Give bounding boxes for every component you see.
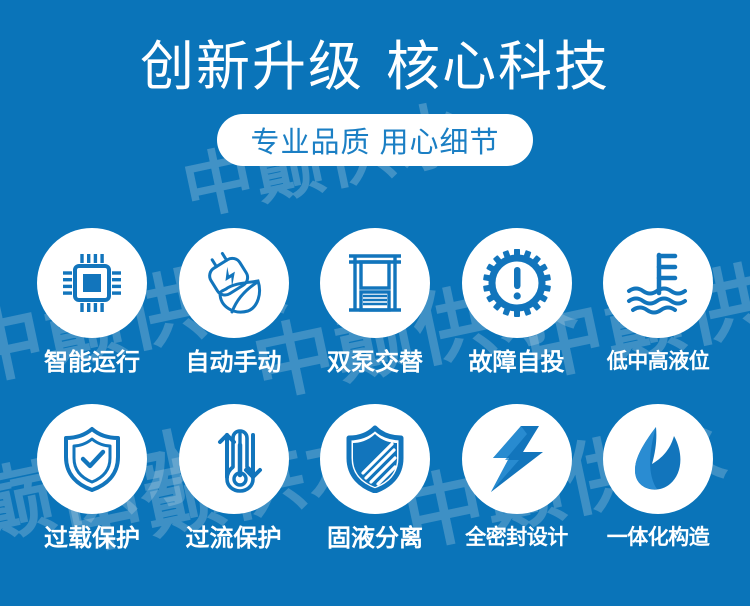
feature-icon-circle (320, 228, 430, 338)
feature-item[interactable]: 自动手动 (172, 228, 296, 375)
feature-label: 过载保护 (44, 527, 140, 551)
water-drop-leaf-icon (626, 424, 690, 494)
feature-item[interactable]: 智能运行 (30, 228, 154, 375)
feature-icon-circle (462, 404, 572, 514)
feature-label: 固液分离 (327, 527, 423, 551)
feature-icon-circle (603, 404, 713, 514)
feature-label: 一体化构造 (607, 527, 710, 548)
feature-icon-circle (37, 404, 147, 514)
cpu-chip-icon (59, 250, 125, 316)
dual-pump-icon (343, 250, 407, 316)
feature-label: 全密封设计 (465, 527, 568, 548)
tagline-badge: 专业品质 用心细节 (217, 114, 533, 166)
promo-banner: 中巅供水 中巅供水 中巅供水 中巅供水 中巅供水 中巅供水 中巅供水 创新升级核… (0, 0, 750, 606)
page-title: 创新升级核心科技 (0, 0, 750, 100)
feature-item[interactable]: 故障自投 (455, 228, 579, 375)
feature-icon-circle (320, 404, 430, 514)
banner-header: 创新升级核心科技 专业品质 用心细节 (0, 0, 750, 166)
plug-leaf-icon (200, 249, 268, 317)
feature-icon-circle (179, 228, 289, 338)
shield-check-icon (58, 425, 126, 493)
lightning-bolt-icon (487, 424, 547, 494)
feature-label: 双泵交替 (327, 351, 423, 375)
feature-grid: 智能运行 (0, 228, 750, 551)
thermometer-arrows-icon (201, 425, 267, 493)
feature-item[interactable]: 低中高液位 (596, 228, 720, 375)
feature-icon-circle (179, 404, 289, 514)
feature-label: 低中高液位 (607, 351, 710, 372)
feature-label: 过流保护 (186, 527, 282, 551)
water-level-icon (623, 249, 693, 317)
gear-alert-icon (483, 249, 551, 317)
feature-item[interactable]: 固液分离 (313, 404, 437, 551)
feature-item[interactable]: 过载保护 (30, 404, 154, 551)
feature-row-2: 过载保护 (0, 404, 750, 551)
feature-icon-circle (462, 228, 572, 338)
feature-item[interactable]: 一体化构造 (596, 404, 720, 551)
feature-item[interactable]: 过流保护 (172, 404, 296, 551)
feature-icon-circle (37, 228, 147, 338)
feature-row-1: 智能运行 (0, 228, 750, 375)
feature-item[interactable]: 全密封设计 (455, 404, 579, 551)
title-part-1: 创新升级 (140, 37, 364, 97)
feature-label: 自动手动 (186, 351, 282, 375)
feature-label: 智能运行 (44, 351, 140, 375)
feature-item[interactable]: 双泵交替 (313, 228, 437, 375)
title-part-2: 核心科技 (386, 37, 610, 97)
feature-label: 故障自投 (469, 351, 565, 375)
badge-wrapper: 专业品质 用心细节 (0, 114, 750, 166)
shield-striped-icon (342, 425, 408, 493)
feature-icon-circle (603, 228, 713, 338)
